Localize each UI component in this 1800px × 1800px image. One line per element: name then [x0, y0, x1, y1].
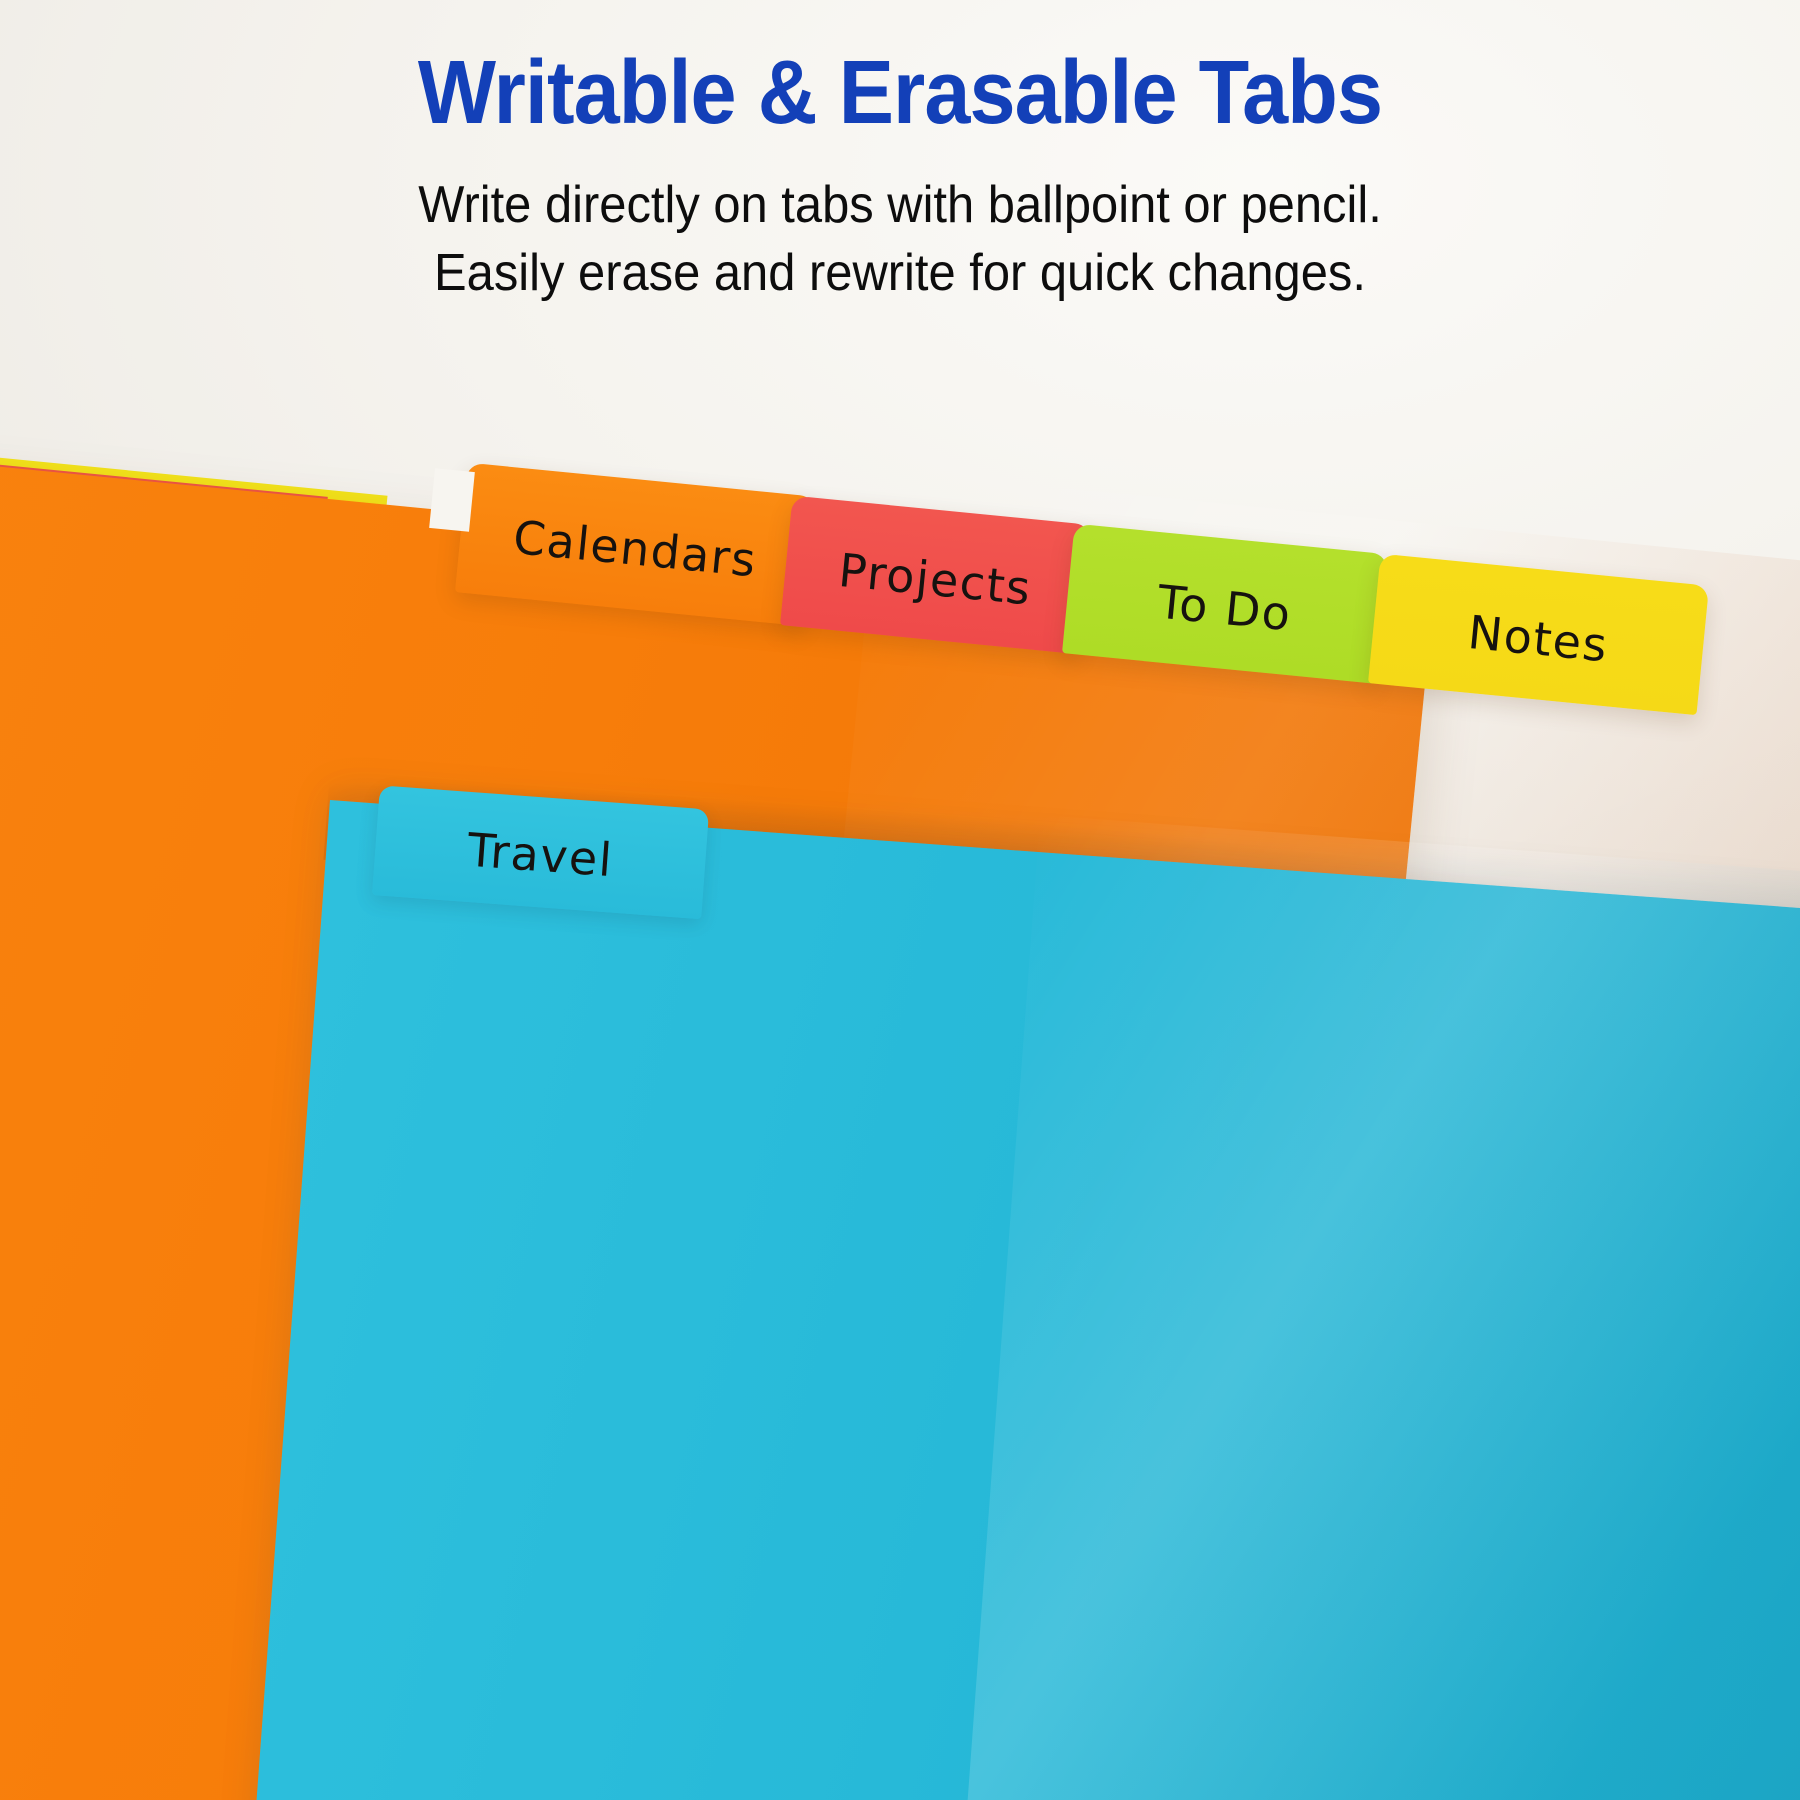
tab-label-projects: Projects: [836, 543, 1034, 616]
tab-label-to-do: To Do: [1155, 575, 1294, 642]
tab-label-travel: Travel: [466, 823, 615, 888]
marketing-text-block: Writable & Erasable Tabs Write directly …: [0, 46, 1800, 308]
subheading-line-2: Easily erase and rewrite for quick chang…: [54, 239, 1746, 308]
tab-label-notes: Notes: [1466, 605, 1611, 672]
subheading-line-1: Write directly on tabs with ballpoint or…: [54, 171, 1746, 240]
blue-divider-sheet: [249, 800, 1800, 1800]
sheet-edge-notch: [429, 468, 475, 532]
subheading: Write directly on tabs with ballpoint or…: [54, 171, 1746, 308]
tab-label-calendars: Calendars: [511, 510, 759, 588]
page-title: Writable & Erasable Tabs: [72, 46, 1728, 141]
product-photo-stage: Calendars Projects To Do Notes Travel Wr…: [0, 0, 1800, 1800]
